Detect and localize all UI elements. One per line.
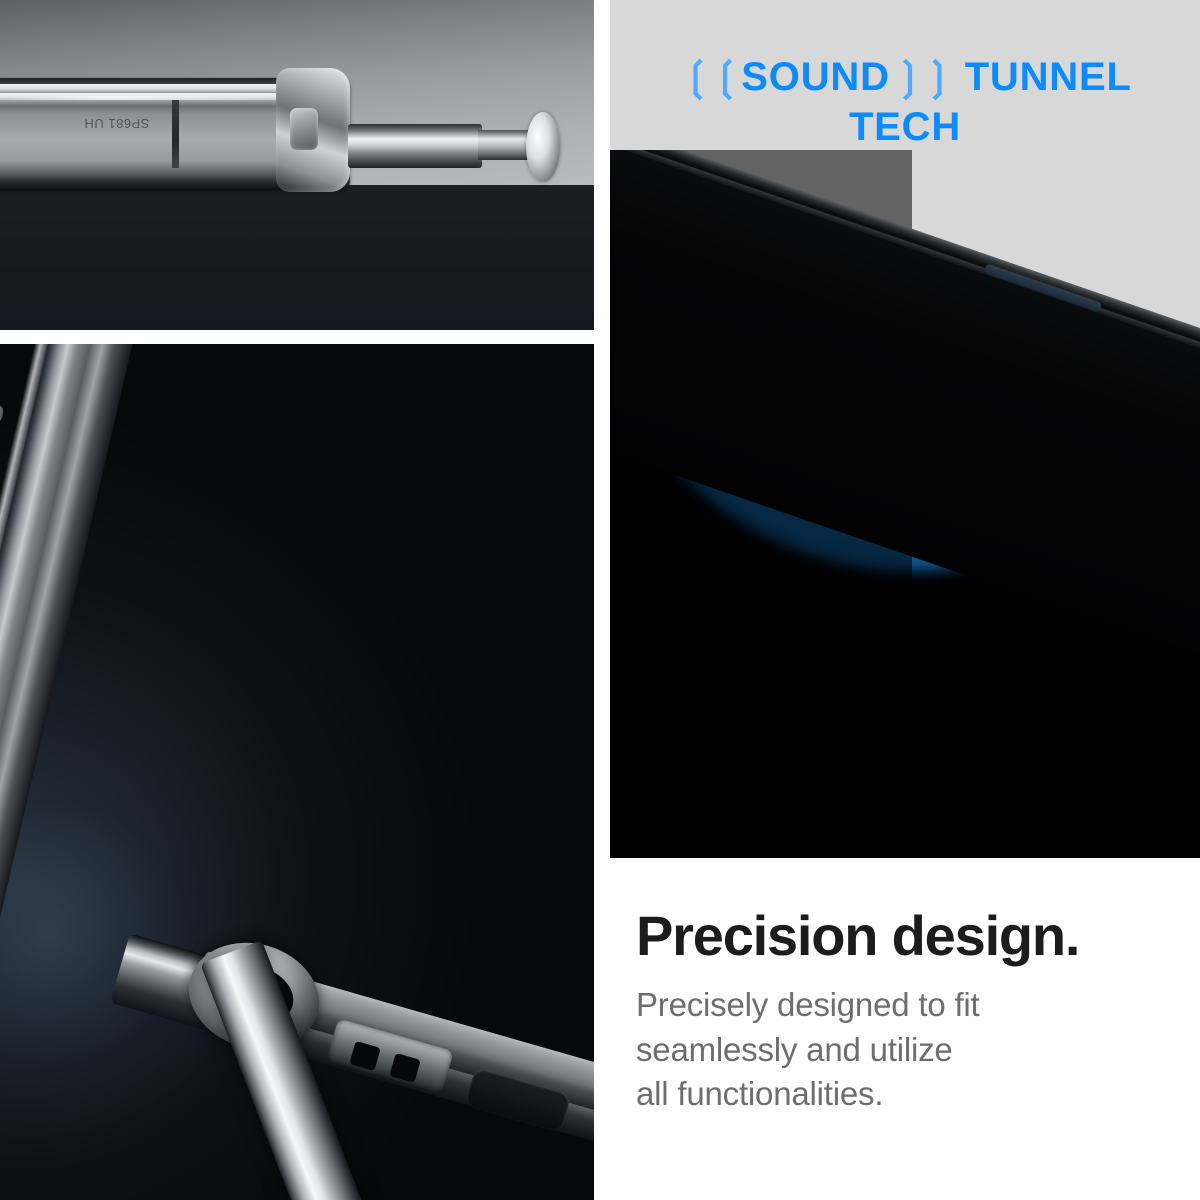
sound-word: SOUND [741, 55, 889, 99]
panel-sound-tunnel: ❲❲SOUND❳❳ TUNNEL TECH [610, 0, 1200, 858]
copy-block: Precision design. Precisely designed to … [636, 906, 1176, 1117]
case-button-cover [290, 108, 318, 150]
sound-tunnel-stage [610, 150, 1200, 858]
stylus-tip-cap [526, 112, 560, 182]
tunnel-word: TUNNEL [965, 55, 1132, 99]
sound-tunnel-title: ❲❲SOUND❳❳ TUNNEL TECH [610, 52, 1200, 153]
sound-wave-right-icon: ❳❳ [890, 55, 953, 99]
tech-word: TECH [610, 102, 1200, 152]
page-subcopy: Precisely designed to fit seamlessly and… [636, 983, 1176, 1117]
page-headline: Precision design. [636, 906, 1176, 965]
sound-wave-left-icon: ❲❲ [678, 55, 741, 99]
subcopy-line-2: seamlessly and utilize [636, 1031, 953, 1068]
subcopy-line-1: Precisely designed to fit [636, 986, 980, 1023]
stylus-shaft [348, 124, 482, 168]
stylus-backdrop-dark [0, 185, 594, 330]
stylus-model-code: SP681 UH [84, 116, 149, 131]
subcopy-line-3: all functionalities. [636, 1075, 883, 1112]
stylus-neck [478, 130, 532, 160]
case-seam [172, 100, 179, 168]
case-scene-glow [0, 724, 260, 1144]
panel-case-corner: Spigen [0, 344, 594, 1200]
product-feature-page: SP681 UH Spigen ❲❲SOUND❳❳ TUNNEL T [0, 0, 1200, 1200]
panel-stylus-closeup: SP681 UH [0, 0, 594, 330]
